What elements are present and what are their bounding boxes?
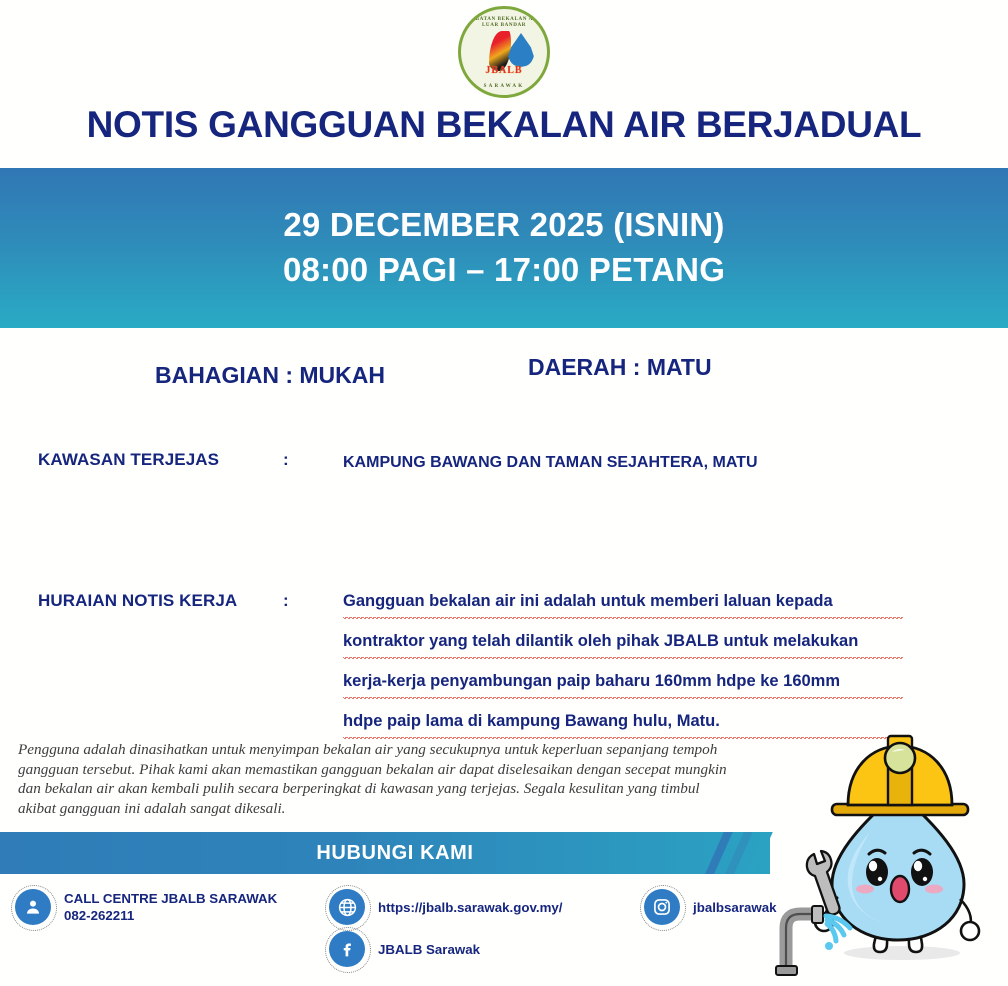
notice-time: 08:00 PAGI – 17:00 PETANG	[283, 248, 725, 293]
notice-poster: JABATAN BEKALAN AIR LUAR BANDAR JBALB SA…	[0, 0, 1008, 986]
division-label: BAHAGIAN : MUKAH	[155, 362, 385, 389]
facebook-icon	[330, 932, 364, 966]
contact-website[interactable]: https://jbalb.sarawak.gov.my/	[330, 890, 562, 924]
water-droplet-worker-mascot	[770, 732, 1008, 982]
work-description-line: kontraktor yang telah dilantik oleh piha…	[343, 623, 903, 663]
logo-ring-text-top: JABATAN BEKALAN AIR LUAR BANDAR	[461, 16, 547, 28]
instagram-icon	[645, 890, 679, 924]
advisory-note: Pengguna adalah dinasihatkan untuk menyi…	[18, 740, 738, 818]
facebook-page: JBALB Sarawak	[378, 941, 480, 958]
contact-facebook[interactable]: JBALB Sarawak	[330, 932, 480, 966]
call-centre-text: CALL CENTRE JBALB SARAWAK 082-262211	[64, 890, 277, 924]
work-description-label: HURAIAN NOTIS KERJA	[38, 591, 237, 611]
date-banner: 29 DECEMBER 2025 (ISNIN) 08:00 PAGI – 17…	[0, 168, 1008, 328]
affected-area-label: KAWASAN TERJEJAS	[38, 450, 219, 470]
contact-heading-bar: HUBUNGI KAMI	[0, 832, 770, 874]
call-centre-phone: 082-262211	[64, 907, 277, 924]
work-description-body: Gangguan bekalan air ini adalah untuk me…	[343, 583, 903, 743]
work-description-line: Gangguan bekalan air ini adalah untuk me…	[343, 583, 903, 623]
affected-area-value: KAMPUNG BAWANG DAN TAMAN SEJAHTERA, MATU	[343, 454, 758, 472]
logo-acronym: JBALB	[461, 65, 547, 76]
work-description-line: kerja-kerja penyambungan paip baharu 160…	[343, 663, 903, 703]
logo-container: JABATAN BEKALAN AIR LUAR BANDAR JBALB SA…	[0, 6, 1008, 98]
contact-call-centre[interactable]: CALL CENTRE JBALB SARAWAK 082-262211	[16, 890, 277, 924]
contact-heading: HUBUNGI KAMI	[316, 842, 473, 865]
water-droplet-icon	[508, 33, 534, 67]
work-description-colon: :	[283, 591, 289, 611]
contact-instagram[interactable]: jbalbsarawak	[645, 890, 777, 924]
logo-ring-text-bottom: SARAWAK	[461, 83, 547, 89]
district-label: DAERAH : MATU	[528, 354, 712, 381]
globe-icon	[330, 890, 364, 924]
instagram-handle: jbalbsarawak	[693, 899, 777, 916]
notice-date: 29 DECEMBER 2025 (ISNIN)	[283, 203, 724, 248]
jbalb-logo: JABATAN BEKALAN AIR LUAR BANDAR JBALB SA…	[458, 6, 550, 98]
call-centre-line1: CALL CENTRE JBALB SARAWAK	[64, 891, 277, 906]
affected-area-colon: :	[283, 450, 289, 470]
person-icon	[16, 890, 50, 924]
website-url: https://jbalb.sarawak.gov.my/	[378, 899, 562, 916]
page-title: NOTIS GANGGUAN BEKALAN AIR BERJADUAL	[0, 104, 1008, 146]
